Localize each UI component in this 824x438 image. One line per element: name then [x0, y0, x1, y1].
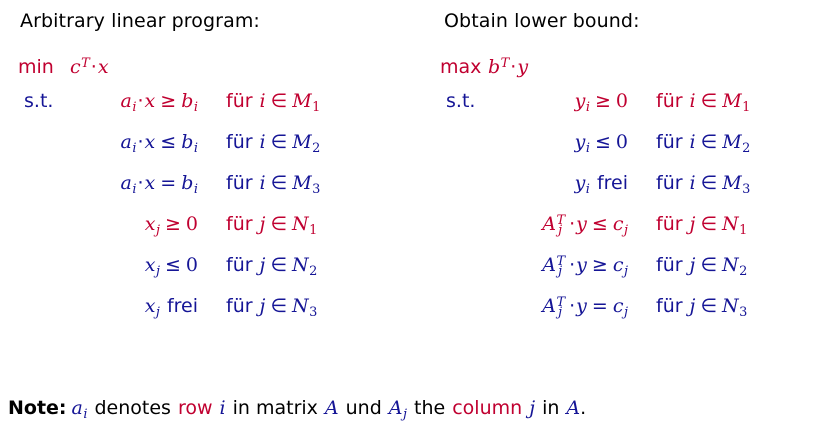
primal-objective-dot: · — [90, 56, 98, 78]
dual-constraint-row: ATj·y=cj fürj∈N3 — [440, 297, 750, 338]
cond-index: i — [253, 172, 266, 194]
dot-operator: · — [137, 131, 145, 153]
dual-constraint-expression: yifrei — [502, 174, 628, 193]
primal-constraint-expression: ai·x≤bi — [74, 133, 198, 152]
lhs-base: A — [542, 254, 556, 276]
dual-constraint-condition: füri∈M2 — [628, 133, 750, 152]
lhs-base: y — [575, 131, 586, 153]
primal-constraint-row: s.t. ai·x≥bi füri∈M1 — [18, 92, 320, 133]
lhs-variable: x — [145, 131, 156, 153]
cond-set-subscript: 3 — [742, 182, 750, 197]
cond-set: M — [722, 172, 741, 194]
cond-index: j — [253, 295, 266, 317]
cond-word: für — [656, 295, 683, 317]
lhs-base: y — [575, 90, 586, 112]
dual-objective-expression: bT·y — [488, 58, 528, 77]
cond-word: für — [226, 254, 253, 276]
relation-operator: ≤ — [160, 254, 186, 276]
lhs-base: a — [121, 90, 132, 112]
cond-word: für — [226, 172, 253, 194]
rhs-base: 0 — [616, 131, 628, 153]
dual-constraint-row: ATj·y≤cj fürj∈N1 — [440, 215, 750, 256]
dual-constraint-condition: füri∈M3 — [628, 174, 750, 193]
cond-word: für — [656, 213, 683, 235]
note-word-und: und — [339, 397, 382, 419]
cond-in-operator: ∈ — [265, 295, 292, 317]
primal-constraint-row: xj≤0 fürj∈N2 — [18, 256, 320, 297]
cond-index: i — [253, 90, 266, 112]
rhs-base: 0 — [616, 90, 628, 112]
cond-set: N — [292, 254, 309, 276]
dual-constraint-row: yi≤0 füri∈M2 — [440, 133, 750, 174]
cond-index: i — [253, 131, 266, 153]
lhs-base: a — [121, 172, 132, 194]
dual-constraint-expression: ATj·y≤cj — [502, 215, 628, 234]
note-symbol-a: a — [72, 397, 83, 419]
dual-constraint-expression: yi≤0 — [502, 133, 628, 152]
cond-word: für — [226, 295, 253, 317]
relation-operator: ≤ — [590, 131, 616, 153]
primal-constraint-condition: füri∈M2 — [198, 133, 320, 152]
cond-in-operator: ∈ — [265, 254, 292, 276]
note-label: Note: — [8, 397, 72, 419]
primal-constraint-expression: ai·x=bi — [74, 174, 198, 193]
dual-objective-keyword: max — [440, 58, 488, 77]
cond-in-operator: ∈ — [695, 295, 722, 317]
primal-objective-keyword: min — [18, 58, 70, 77]
cond-set: N — [722, 213, 739, 235]
cond-index: i — [683, 90, 696, 112]
relation-operator: = — [587, 295, 613, 317]
note-symbol-i: i — [213, 397, 226, 419]
cond-in-operator: ∈ — [695, 254, 722, 276]
dual-constraint-row: yifrei füri∈M3 — [440, 174, 750, 215]
lhs-base: A — [542, 295, 556, 317]
lhs-base: x — [145, 295, 156, 317]
note-symbol-A: A — [318, 397, 339, 419]
cond-word: für — [656, 254, 683, 276]
note-word-the: the — [407, 397, 445, 419]
lhs-subscript: i — [132, 141, 136, 156]
dual-objective-vector: b — [488, 56, 500, 78]
lhs-subscript: i — [132, 182, 136, 197]
cond-set-subscript: 1 — [309, 223, 317, 238]
primal-constraint-expression: xj≤0 — [74, 256, 198, 275]
primal-objective-vector: c — [70, 56, 81, 78]
primal-constraint-row: xj≥0 fürj∈N1 — [18, 215, 320, 256]
cond-set-subscript: 3 — [309, 305, 317, 320]
cond-index: j — [253, 213, 266, 235]
dot-operator: · — [137, 90, 145, 112]
lhs-variable: y — [576, 213, 587, 235]
cond-in-operator: ∈ — [696, 90, 723, 112]
cond-word: für — [226, 90, 253, 112]
cond-set: M — [722, 90, 741, 112]
lhs-base: x — [145, 213, 156, 235]
relation-operator: ≥ — [160, 213, 186, 235]
cond-word: für — [226, 131, 253, 153]
dual-constraint-expression: ATj·y=cj — [502, 297, 628, 316]
lhs-variable: x — [145, 172, 156, 194]
note-word-in: in — [535, 397, 559, 419]
note-symbol-j: j — [522, 397, 535, 419]
rhs-base: 0 — [186, 213, 198, 235]
cond-in-operator: ∈ — [266, 131, 293, 153]
rhs-base: b — [181, 172, 193, 194]
cond-in-operator: ∈ — [265, 213, 292, 235]
dual-constraint-expression: yi≥0 — [502, 92, 628, 111]
dot-operator: · — [562, 213, 576, 235]
cond-set: M — [722, 131, 741, 153]
dual-constraint-condition: fürj∈N1 — [628, 215, 747, 234]
dual-lp-block: max bT·y s.t. yi≥0 füri∈M1 yi≤0 füri∈M2 … — [440, 58, 750, 338]
rhs-base: c — [613, 254, 624, 276]
cond-set-subscript: 1 — [312, 100, 320, 115]
dual-constraint-row: s.t. yi≥0 füri∈M1 — [440, 92, 750, 133]
cond-in-operator: ∈ — [696, 131, 723, 153]
cond-set-subscript: 3 — [312, 182, 320, 197]
dot-operator: · — [137, 172, 145, 194]
cond-index: j — [683, 254, 696, 276]
cond-set: N — [722, 295, 739, 317]
cond-set: N — [722, 254, 739, 276]
rhs-base: c — [613, 213, 624, 235]
primal-constraint-condition: fürj∈N2 — [198, 256, 317, 275]
cond-index: i — [683, 131, 696, 153]
dual-constraint-condition: füri∈M1 — [628, 92, 750, 111]
primal-objective-expression: cT·x — [70, 58, 109, 77]
cond-index: j — [683, 213, 696, 235]
cond-set-subscript: 2 — [309, 264, 317, 279]
dual-objective-row: max bT·y — [440, 58, 750, 92]
note-word-column: column — [445, 397, 522, 419]
cond-index: j — [253, 254, 266, 276]
primal-constraint-row: xjfrei fürj∈N3 — [18, 297, 320, 338]
note-period: . — [580, 397, 586, 419]
dual-objective-transpose: T — [501, 56, 510, 71]
dual-constraint-row: ATj·y≥cj fürj∈N2 — [440, 256, 750, 297]
cond-set: M — [292, 90, 311, 112]
primal-objective-variable: x — [98, 56, 109, 78]
relation-operator: frei — [590, 172, 628, 194]
primal-objective-transpose: T — [81, 56, 90, 71]
relation-operator: ≥ — [155, 90, 181, 112]
rhs-base: c — [613, 295, 624, 317]
note-word-denotes: denotes — [88, 397, 171, 419]
cond-in-operator: ∈ — [266, 172, 293, 194]
primal-objective-row: min cT·x — [18, 58, 320, 92]
relation-operator: ≥ — [587, 254, 613, 276]
cond-index: i — [683, 172, 696, 194]
note-symbol-A2: A — [559, 397, 580, 419]
lhs-variable: x — [145, 90, 156, 112]
rhs-base: 0 — [186, 254, 198, 276]
cond-set: N — [292, 295, 309, 317]
cond-set: M — [292, 172, 311, 194]
dual-constraint-expression: ATj·y≥cj — [502, 256, 628, 275]
cond-word: für — [656, 90, 683, 112]
cond-in-operator: ∈ — [266, 90, 293, 112]
slide-canvas: Arbitrary linear program: Obtain lower b… — [0, 0, 824, 438]
primal-constraint-row: ai·x=bi füri∈M3 — [18, 174, 320, 215]
cond-set-subscript: 1 — [742, 100, 750, 115]
cond-set-subscript: 2 — [739, 264, 747, 279]
cond-set: M — [292, 131, 311, 153]
dot-operator: · — [562, 295, 576, 317]
lhs-base: y — [575, 172, 586, 194]
relation-operator: = — [155, 172, 181, 194]
cond-set-subscript: 1 — [739, 223, 747, 238]
relation-operator: ≥ — [590, 90, 616, 112]
cond-word: für — [226, 213, 253, 235]
cond-in-operator: ∈ — [695, 213, 722, 235]
primal-constraint-expression: xjfrei — [74, 297, 198, 316]
rhs-base: b — [181, 90, 193, 112]
dual-constraint-condition: fürj∈N3 — [628, 297, 747, 316]
primal-lp-block: min cT·x s.t. ai·x≥bi füri∈M1 ai·x≤bi fü… — [18, 58, 320, 338]
primal-constraint-expression: ai·x≥bi — [74, 92, 198, 111]
relation-operator: ≤ — [587, 213, 613, 235]
dual-objective-variable: y — [517, 56, 528, 78]
heading-dual: Obtain lower bound: — [444, 10, 640, 32]
lhs-variable: y — [576, 295, 587, 317]
primal-constraint-condition: fürj∈N3 — [198, 297, 317, 316]
lhs-base: A — [542, 213, 556, 235]
primal-st-label: s.t. — [18, 92, 74, 111]
cond-word: für — [656, 131, 683, 153]
cond-index: j — [683, 295, 696, 317]
cond-set-subscript: 2 — [742, 141, 750, 156]
note-symbol-Aj: A — [382, 397, 403, 419]
primal-constraint-condition: füri∈M1 — [198, 92, 320, 111]
primal-constraint-condition: fürj∈N1 — [198, 215, 317, 234]
dual-st-label: s.t. — [440, 92, 502, 111]
cond-set-subscript: 3 — [739, 305, 747, 320]
note-word-in-matrix: in matrix — [226, 397, 318, 419]
dual-constraint-condition: fürj∈N2 — [628, 256, 747, 275]
note-line: Note:aidenotesrowiin matrixAundAjthecolu… — [8, 397, 586, 419]
lhs-variable: y — [576, 254, 587, 276]
lhs-base: x — [145, 254, 156, 276]
primal-constraint-condition: füri∈M3 — [198, 174, 320, 193]
cond-set-subscript: 2 — [312, 141, 320, 156]
relation-operator: ≤ — [155, 131, 181, 153]
lhs-base: a — [121, 131, 132, 153]
relation-operator: frei — [160, 295, 198, 317]
cond-word: für — [656, 172, 683, 194]
primal-constraint-row: ai·x≤bi füri∈M2 — [18, 133, 320, 174]
lhs-subscript: i — [132, 100, 136, 115]
rhs-base: b — [181, 131, 193, 153]
cond-in-operator: ∈ — [696, 172, 723, 194]
primal-constraint-expression: xj≥0 — [74, 215, 198, 234]
heading-primal: Arbitrary linear program: — [20, 10, 260, 32]
cond-set: N — [292, 213, 309, 235]
note-symbol-a-subscript: i — [83, 407, 87, 422]
dot-operator: · — [562, 254, 576, 276]
note-word-row: row — [171, 397, 213, 419]
